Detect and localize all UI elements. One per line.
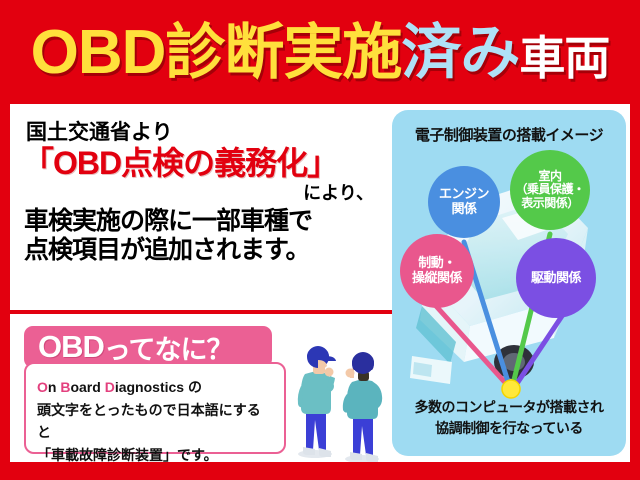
notice-line-byit: により、 [20, 179, 374, 205]
footer-line-2: 協調制御を行なっている [392, 418, 626, 438]
computer-hub-dot [502, 380, 520, 398]
bubble-question-text: ってなに？ [104, 328, 233, 367]
notice-line-inspection: 車検実施の際に一部車種で [24, 207, 392, 237]
node-brake-label: 制動・ 操縦関係 [412, 256, 462, 285]
people-illustration [288, 316, 394, 462]
panel-title: 電子制御装置の搭載イメージ [392, 124, 626, 145]
description-line-3: 「車載故障診断装置」です。 [37, 444, 274, 467]
description-line-1: On Board Diagnostics の [37, 376, 274, 399]
obd-description-box: On Board Diagnostics の 頭文字をとったもので日本語にすると… [24, 362, 286, 454]
header-diagnosis-text: 診断実施 [165, 23, 401, 83]
header-completed-text: 済み [401, 23, 519, 83]
content-card: 国土交通省より 「OBD点検の義務化」 により、 車検実施の際に一部車種で 点検… [10, 104, 630, 462]
acronym-n-rest: n [48, 379, 60, 395]
header-vehicle-text: 車両 [519, 35, 609, 81]
node-cabin: 室内 （乗員保護・ 表示関係） [510, 150, 590, 230]
government-notice-block: 国土交通省より 「OBD点検の義務化」 により、 車検実施の際に一部車種で 点検… [20, 110, 392, 306]
acronym-iagnostics-rest: iagnostics の [115, 379, 202, 395]
acronym-b: B [60, 379, 70, 395]
node-cabin-label: 室内 （乗員保護・ 表示関係） [515, 170, 584, 210]
panel-footer: 多数のコンピュータが搭載され 協調制御を行なっている [392, 397, 626, 438]
acronym-d: D [105, 379, 115, 395]
banner-header: OBD 診断実施 済み 車両 [0, 14, 640, 92]
notice-line-added: 点検項目が追加されます。 [24, 236, 392, 266]
obd-inspection-banner: OBD 診断実施 済み 車両 国土交通省より 「OBD点検の義務化」 により、 … [0, 0, 640, 480]
notice-line-ministry: 国土交通省より [26, 116, 392, 146]
node-drivetrain: 駆動関係 [516, 238, 596, 318]
node-brake-steering: 制動・ 操縦関係 [400, 234, 474, 308]
section-divider [10, 310, 392, 314]
obd-explanation-block: OBD ってなに？ On Board Diagnostics の 頭文字をとった… [24, 326, 286, 452]
bubble-obd-text: OBD [38, 329, 104, 365]
header-obd-text: OBD [31, 22, 166, 84]
node-drive-label: 駆動関係 [531, 271, 581, 286]
acronym-oard-rest: oard [70, 379, 104, 395]
acronym-o: O [37, 379, 48, 395]
left-column: 国土交通省より 「OBD点検の義務化」 により、 車検実施の際に一部車種で 点検… [10, 104, 392, 462]
right-column: 電子制御装置の搭載イメージ エンジン 関係 室内 （乗員保護・ 表示関係） 制動… [392, 110, 626, 456]
node-engine-label: エンジン 関係 [439, 187, 489, 216]
notice-line-mandate: 「OBD点検の義務化」 [22, 147, 392, 181]
description-line-2: 頭文字をとったもので日本語にすると [37, 399, 274, 444]
ecu-diagram-panel: 電子制御装置の搭載イメージ エンジン 関係 室内 （乗員保護・ 表示関係） 制動… [392, 110, 626, 456]
node-engine: エンジン 関係 [428, 166, 500, 238]
two-people-graphic [288, 316, 394, 462]
footer-line-1: 多数のコンピュータが搭載され [392, 397, 626, 417]
